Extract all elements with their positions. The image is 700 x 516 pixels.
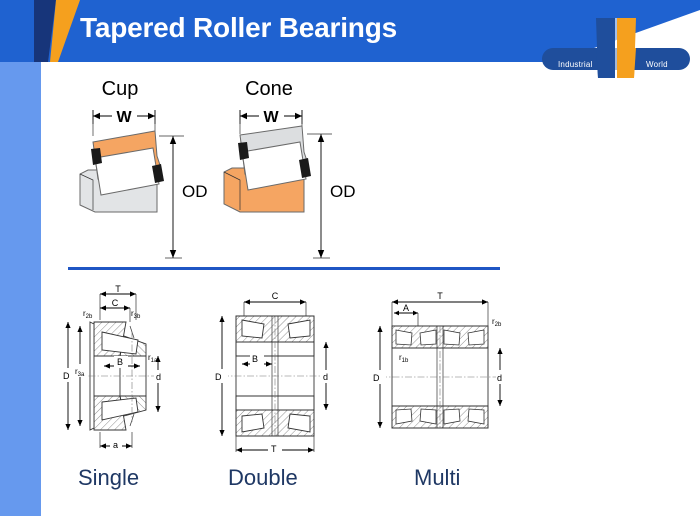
multi-bearing-diagram: T A r2b [366, 284, 516, 462]
multi-roller-bottom-1 [396, 409, 412, 424]
slide-content: Cup W [0, 62, 700, 516]
multi-t-arrow-left [392, 299, 398, 304]
double-B-label: B [252, 354, 258, 364]
single-t-label: T [115, 284, 121, 294]
double-d-label: d [323, 372, 328, 382]
multi-roller-top-1 [396, 330, 412, 345]
double-d-arrow-bottom [219, 430, 224, 436]
multi-roller-bottom-3 [444, 409, 460, 424]
single-a-arrow-right [126, 443, 132, 448]
multi-A-label: A [403, 303, 409, 313]
multi-d-arrow-bottom [377, 422, 382, 428]
cup-w-arrow-left [93, 113, 100, 119]
double-t-arrow-right [308, 447, 314, 452]
single-d-arrow-top [65, 322, 70, 328]
single-a-arrow-left [100, 443, 106, 448]
multi-roller-top-3 [444, 330, 460, 345]
double-d-arrow-top [219, 316, 224, 322]
multi-label: Multi [414, 465, 460, 491]
multi-r1b-label: r1b [399, 353, 409, 364]
single-bearing-diagram: T C r2b r3b [62, 284, 202, 462]
cone-od-arrow-top [318, 134, 324, 142]
cone-od-arrow-bottom [318, 250, 324, 258]
single-c-label: C [112, 298, 119, 308]
multi-D-label: D [373, 373, 380, 383]
multi-T-label: T [437, 291, 443, 301]
single-r2b-label: r2b [83, 309, 93, 320]
double-c-arrow-left [244, 299, 250, 304]
multi-d-label: d [497, 373, 502, 383]
cup-od-arrow-top [170, 136, 176, 144]
multi-roller-top-2 [420, 330, 436, 345]
single-t-arrow-right [130, 291, 136, 296]
single-r3a-arrow-top [77, 326, 82, 332]
multi-roller-bottom-4 [468, 409, 484, 424]
single-B-label: B [117, 357, 123, 367]
double-b-arrow-right [266, 361, 272, 366]
cone-od-label: OD [330, 182, 356, 201]
multi-r2b-label: r2b [492, 317, 502, 328]
slide-root: Tapered Roller Bearings Industrial World… [0, 0, 700, 516]
single-c-arrow-left [100, 305, 106, 310]
double-C-label: C [272, 291, 279, 301]
multi-roller-top-4 [468, 330, 484, 345]
single-label: Single [78, 465, 139, 491]
multi-roller-bottom-2 [420, 409, 436, 424]
multi-a-arrow-right [413, 311, 418, 316]
cup-od-label: OD [182, 182, 208, 201]
double-bearing-diagram: C D [208, 284, 348, 462]
cone-w-arrow-left [240, 113, 247, 119]
single-d-arrow-bottom [65, 424, 70, 430]
cone-w-arrow-right [295, 113, 302, 119]
page-title: Tapered Roller Bearings [80, 12, 397, 44]
single-D-label: D [63, 371, 70, 381]
single-c-arrow-right [124, 305, 130, 310]
single-t-arrow-left [100, 291, 106, 296]
cup-title: Cup [88, 78, 152, 101]
single-r3a-arrow-bottom [77, 420, 82, 426]
double-d-small-arrow-top [323, 342, 328, 348]
double-t-arrow-left [236, 447, 242, 452]
double-label: Double [228, 465, 298, 491]
single-d-label: d [156, 372, 161, 382]
cone-title: Cone [237, 78, 301, 101]
cup-w-label: W [116, 109, 132, 126]
multi-a-arrow-left [394, 311, 399, 316]
cone-diagram: W OD [212, 102, 362, 272]
multi-d-small-arrow-bottom [497, 400, 502, 406]
multi-t-arrow-right [482, 299, 488, 304]
cup-od-arrow-bottom [170, 250, 176, 258]
single-a-label: a [113, 440, 118, 450]
multi-d-arrow-top [377, 326, 382, 332]
double-T-label: T [271, 444, 277, 454]
single-d-small-arrow-bottom [155, 406, 160, 412]
double-d-small-arrow-bottom [323, 404, 328, 410]
double-c-arrow-right [300, 299, 306, 304]
single-r1a-label: r1a [148, 353, 158, 364]
cone-w-label: W [263, 109, 279, 126]
single-b-arrow-left [104, 363, 110, 368]
cup-diagram: W OD [60, 102, 210, 272]
double-D-label: D [215, 372, 222, 382]
cup-w-arrow-right [148, 113, 155, 119]
multi-d-small-arrow-top [497, 348, 502, 354]
double-b-arrow-left [242, 361, 248, 366]
